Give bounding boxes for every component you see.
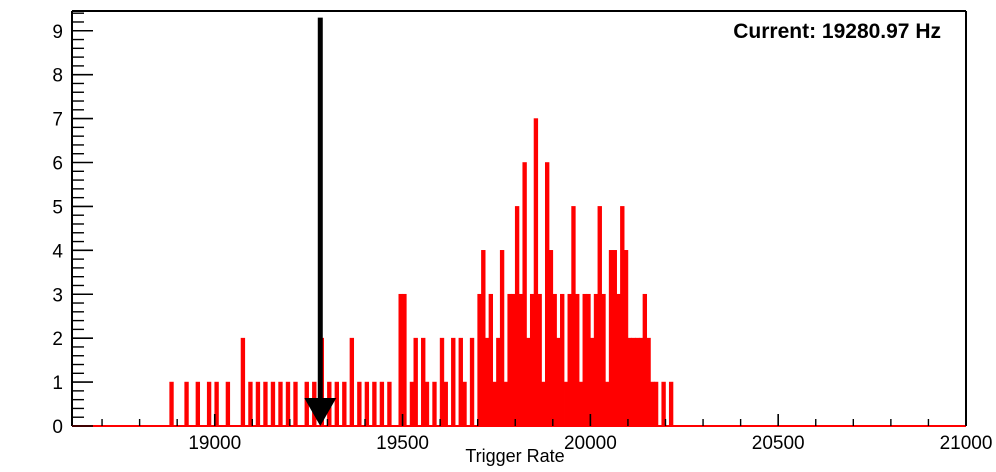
histogram-bin <box>620 206 624 426</box>
histogram-bin <box>587 294 591 426</box>
histogram-bin <box>602 294 606 426</box>
histogram-bin <box>605 382 609 426</box>
histogram-bin <box>357 382 361 426</box>
histogram-bin <box>421 338 425 426</box>
histogram-bin <box>294 382 298 426</box>
histogram-bin <box>433 382 437 426</box>
histogram-bin <box>553 294 557 426</box>
histogram-bin <box>451 338 455 426</box>
histogram-bin <box>459 338 463 426</box>
trigger-rate-histogram-panel: 01234567891900019500200002050021000 Trig… <box>0 0 996 472</box>
histogram-bin <box>496 338 500 426</box>
y-axis-tick-label: 0 <box>52 417 63 438</box>
histogram-bars <box>72 119 966 426</box>
histogram-bin <box>534 119 538 426</box>
histogram-bin <box>399 294 403 426</box>
histogram-bin <box>613 250 617 426</box>
histogram-bin <box>410 382 414 426</box>
histogram-plot: 01234567891900019500200002050021000 Trig… <box>0 0 996 472</box>
histogram-bin <box>380 382 384 426</box>
histogram-bin <box>185 382 189 426</box>
histogram-bin <box>549 250 553 426</box>
y-axis-tick-label: 3 <box>52 285 63 306</box>
histogram-bin <box>575 294 579 426</box>
histogram-bin <box>594 294 598 426</box>
histogram-bin <box>545 163 549 426</box>
histogram-bin <box>572 206 576 426</box>
y-axis-tick-label: 8 <box>52 66 63 87</box>
histogram-bin <box>414 338 418 426</box>
histogram-bin <box>335 382 339 426</box>
histogram-bin <box>256 382 260 426</box>
current-rate-annotation: Current: 19280.97 Hz <box>733 20 941 43</box>
histogram-bin <box>500 250 504 426</box>
histogram-bin <box>279 382 283 426</box>
histogram-bin <box>271 382 275 426</box>
histogram-bin <box>530 294 534 426</box>
histogram-bin <box>226 382 230 426</box>
histogram-bin <box>598 206 602 426</box>
y-axis-tick-label: 1 <box>52 373 63 394</box>
histogram-bin <box>478 294 482 426</box>
histogram-bin <box>527 338 531 426</box>
y-axis-tick-label: 6 <box>52 154 63 175</box>
x-axis-tick-label: 21000 <box>940 433 993 454</box>
y-axis-tick-label: 2 <box>52 329 63 350</box>
histogram-bin <box>170 382 174 426</box>
y-axis-tick-label: 9 <box>52 22 63 43</box>
histogram-bin <box>425 382 429 426</box>
histogram-bin <box>643 294 647 426</box>
histogram-bin <box>669 382 673 426</box>
x-axis-tick-label: 20000 <box>564 433 617 454</box>
histogram-bin <box>523 163 527 426</box>
y-axis-tick-label: 7 <box>52 110 63 131</box>
histogram-bin <box>650 382 654 426</box>
histogram-bin <box>590 338 594 426</box>
histogram-bin <box>350 338 354 426</box>
x-axis-tick-label: 20500 <box>752 433 805 454</box>
histogram-bin <box>485 338 489 426</box>
histogram-bin <box>373 382 377 426</box>
histogram-bin <box>617 294 621 426</box>
histogram-bin <box>647 338 651 426</box>
histogram-bin <box>440 338 444 426</box>
histogram-bin <box>519 294 523 426</box>
histogram-bin <box>557 338 561 426</box>
histogram-bin <box>635 338 639 426</box>
histogram-bin <box>241 338 245 426</box>
histogram-bin <box>388 382 392 426</box>
histogram-bin <box>538 294 542 426</box>
histogram-bin <box>444 382 448 426</box>
histogram-bin <box>463 382 467 426</box>
histogram-bin <box>624 250 628 426</box>
histogram-bin <box>508 294 512 426</box>
histogram-bin <box>560 294 564 426</box>
histogram-bin <box>403 294 407 426</box>
histogram-bin <box>481 250 485 426</box>
histogram-bin <box>654 382 658 426</box>
histogram-bin <box>515 206 519 426</box>
histogram-bin <box>632 338 636 426</box>
x-axis-title: Trigger Rate <box>465 446 564 466</box>
histogram-bin <box>342 382 346 426</box>
histogram-bin <box>639 338 643 426</box>
histogram-bin <box>196 382 200 426</box>
histogram-bin <box>568 294 572 426</box>
histogram-bin <box>511 294 515 426</box>
histogram-bin <box>489 294 493 426</box>
histogram-bin <box>264 382 268 426</box>
x-axis-tick-label: 19000 <box>188 433 241 454</box>
histogram-bin <box>628 338 632 426</box>
histogram-bin <box>470 338 474 426</box>
histogram-bin <box>564 382 568 426</box>
current-rate-marker <box>304 18 336 426</box>
y-axis-tick-label: 5 <box>52 197 63 218</box>
histogram-bin <box>583 294 587 426</box>
histogram-bin <box>493 382 497 426</box>
y-axis-tick-label: 4 <box>52 241 63 262</box>
histogram-bin <box>542 382 546 426</box>
histogram-bin <box>579 382 583 426</box>
x-axis-tick-label: 19500 <box>376 433 429 454</box>
histogram-bin <box>207 382 211 426</box>
histogram-bin <box>504 382 508 426</box>
histogram-bin <box>609 250 613 426</box>
